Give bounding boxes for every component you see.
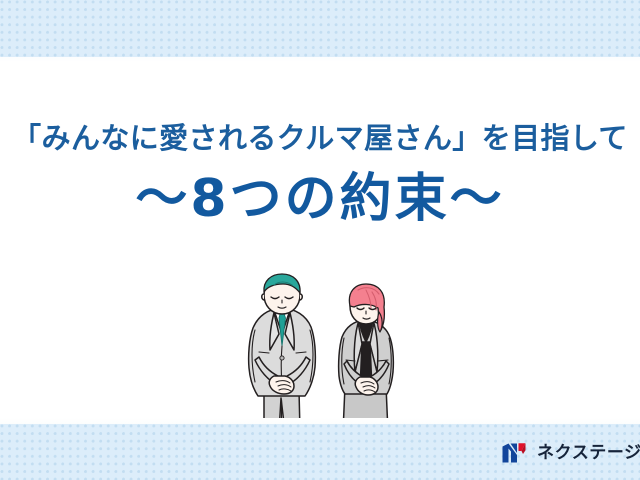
- nextage-logo: ネクステージ: [501, 440, 640, 466]
- banner-canvas: 「みんなに愛されるクルマ屋さん」を目指して 〜8つの約束〜: [0, 0, 640, 480]
- top-dotted-band: [0, 0, 640, 57]
- female-staff-figure: [339, 284, 394, 432]
- male-staff-figure: [249, 274, 316, 432]
- nextage-n-logo-icon: [501, 442, 531, 464]
- two-bowing-staff-illustration: [222, 272, 428, 432]
- nextage-wordmark: ネクステージ: [537, 442, 640, 464]
- illustration-svg: [222, 272, 428, 432]
- headline-line-2: 〜8つの約束〜: [0, 169, 640, 229]
- headline-block: 「みんなに愛されるクルマ屋さん」を目指して 〜8つの約束〜: [0, 118, 640, 229]
- top-band-fade: [0, 57, 640, 62]
- headline-line-1: 「みんなに愛されるクルマ屋さん」を目指して: [0, 118, 640, 158]
- nextage-n-logo-svg: [501, 442, 531, 464]
